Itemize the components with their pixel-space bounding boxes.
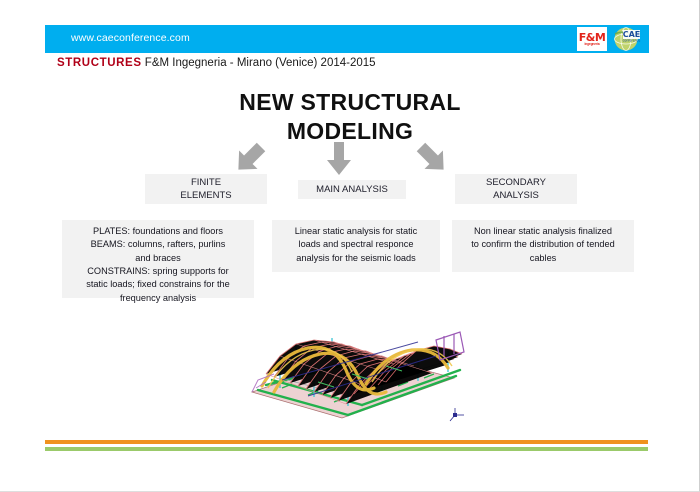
category-box-main-analysis[interactable]: MAIN ANALYSIS <box>298 180 406 199</box>
fea-structural-model <box>222 296 478 422</box>
footer-orange-bar <box>45 440 648 444</box>
fea-model-wireframe <box>222 296 478 422</box>
description-line: Linear static analysis for static <box>276 225 436 238</box>
category-box-secondary-analysis[interactable]: SECONDARY ANALYSIS <box>455 174 577 204</box>
arrow-to-secondary-analysis <box>412 142 454 181</box>
category-label-line-1: FINITE <box>180 176 231 189</box>
conference-url[interactable]: www.caeconference.com <box>71 32 190 44</box>
logo-group: F&M Ingegneria CAE conference <box>577 25 643 53</box>
description-line: analysis for the seismic loads <box>276 252 436 265</box>
slide-canvas: www.caeconference.com F&M Ingegneria CAE… <box>0 0 700 492</box>
coordinate-axis-triad-icon <box>448 406 466 424</box>
arrow-to-main-analysis <box>326 142 352 181</box>
description-line: cables <box>456 252 630 265</box>
cae-globe-icon: CAE conference <box>611 25 643 53</box>
category-label-line-2: ANALYSIS <box>486 189 546 202</box>
description-line: to confirm the distribution of tended <box>456 238 630 251</box>
description-line: static loads; fixed constrains for the <box>66 278 250 291</box>
page-title: NEW STRUCTURAL MODELING <box>0 88 700 147</box>
cae-conference-logo: CAE conference <box>611 25 643 53</box>
description-line: loads and spectral responce <box>276 238 436 251</box>
header-bar: www.caeconference.com F&M Ingegneria CAE… <box>45 25 649 53</box>
cae-logo-subtext: conference <box>623 39 641 43</box>
description-box-main-analysis: Linear static analysis for static loads … <box>272 220 440 272</box>
fm-ingegneria-logo: F&M Ingegneria <box>577 27 607 51</box>
category-label-line-2: ELEMENTS <box>180 189 231 202</box>
description-box-secondary-analysis: Non linear static analysis finalized to … <box>452 220 634 272</box>
slide-subtitle: STRUCTURES F&M Ingegneria - Mirano (Veni… <box>57 57 376 69</box>
category-box-finite-elements[interactable]: FINITE ELEMENTS <box>145 174 267 204</box>
subtitle-keyword: STRUCTURES <box>57 57 142 69</box>
fm-logo-text: F&M <box>579 32 606 43</box>
category-label-line-1: MAIN ANALYSIS <box>316 183 388 196</box>
footer-green-bar <box>45 447 648 451</box>
description-box-finite-elements: PLATES: foundations and floors BEAMS: co… <box>62 220 254 298</box>
description-line: CONSTRAINS: spring supports for <box>66 265 250 278</box>
description-line: PLATES: foundations and floors <box>66 225 250 238</box>
subtitle-rest: F&M Ingegneria - Mirano (Venice) 2014-20… <box>142 57 376 69</box>
description-line: Non linear static analysis finalized <box>456 225 630 238</box>
description-line: BEAMS: columns, rafters, purlins <box>66 238 250 251</box>
fm-logo-subtext: Ingegneria <box>584 43 599 46</box>
description-line: and braces <box>66 252 250 265</box>
category-label-line-1: SECONDARY <box>486 176 546 189</box>
page-title-line-1: NEW STRUCTURAL <box>0 88 700 117</box>
